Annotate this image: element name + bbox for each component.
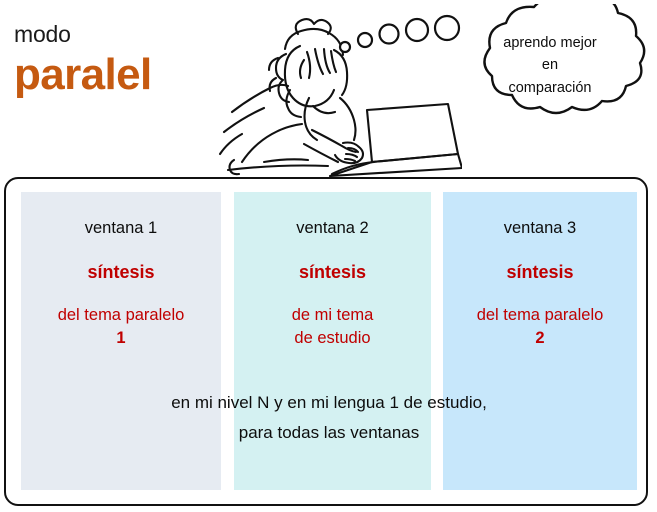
panel-detail-line1-ventana-3: del tema paralelo xyxy=(477,306,604,324)
panel-heading-ventana-3: síntesis xyxy=(443,262,637,283)
panel-detail-line2-ventana-2: de estudio xyxy=(294,329,370,347)
page-kicker: modo xyxy=(14,22,229,46)
panel-detail-ventana-2: de mi tema de estudio xyxy=(234,304,431,351)
page-title: paralel xyxy=(14,52,229,98)
panel-heading-ventana-1: síntesis xyxy=(21,262,221,283)
panel-label-ventana-2: ventana 2 xyxy=(234,219,431,238)
thought-line-1: aprendo mejor xyxy=(462,32,638,54)
panel-label-ventana-3: ventana 3 xyxy=(443,219,637,238)
thought-line-2: en xyxy=(462,54,638,76)
thought-bubble-text: aprendo mejor en comparación xyxy=(462,32,638,99)
panel-heading-ventana-2: síntesis xyxy=(234,262,431,283)
panel-detail-line2-ventana-3: 2 xyxy=(535,329,544,347)
footer-caption: en mi nivel N y en mi lengua 1 de estudi… xyxy=(21,388,637,448)
panel-detail-line1-ventana-1: del tema paralelo xyxy=(58,306,185,324)
panel-detail-line1-ventana-2: de mi tema xyxy=(292,306,374,324)
thought-line-3: comparación xyxy=(462,77,638,99)
panel-label-ventana-1: ventana 1 xyxy=(21,219,221,238)
panel-detail-line2-ventana-1: 1 xyxy=(116,329,125,347)
slide-canvas: modo paralel xyxy=(0,0,657,512)
title-block: modo paralel xyxy=(14,22,229,98)
panel-detail-ventana-1: del tema paralelo 1 xyxy=(21,304,221,351)
caption-line-1: en mi nivel N y en mi lengua 1 de estudi… xyxy=(21,388,637,418)
caption-line-2: para todas las ventanas xyxy=(21,418,637,448)
panel-detail-ventana-3: del tema paralelo 2 xyxy=(443,304,637,351)
